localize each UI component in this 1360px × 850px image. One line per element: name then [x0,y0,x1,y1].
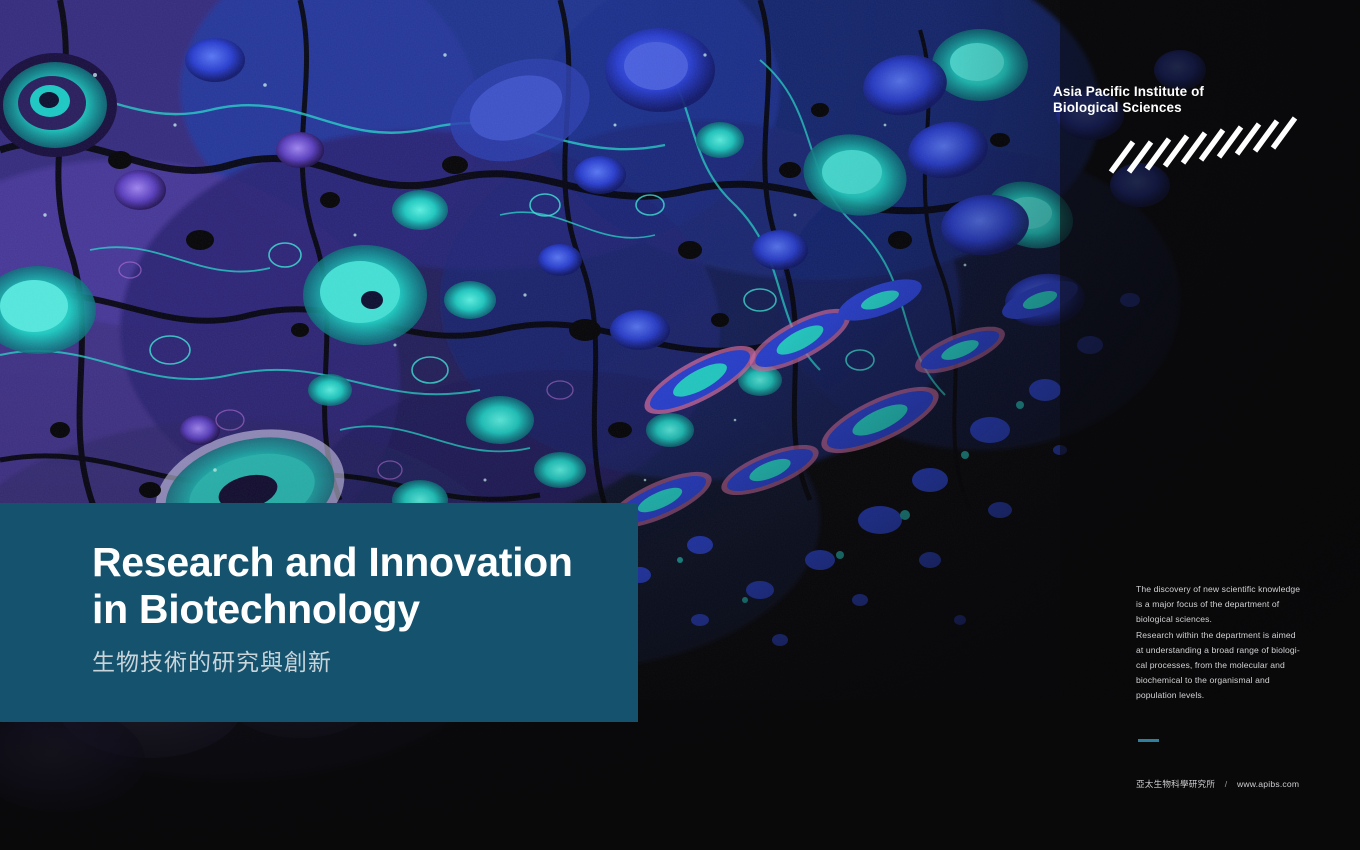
page-title: Research and Innovation in Biotechnology [92,539,612,633]
body-paragraph: The discovery of new scientific knowledg… [1136,582,1301,704]
footer-org-name: 亞太生物科學研究所 [1136,779,1215,789]
footer-separator: / [1225,779,1228,789]
body-text-column: The discovery of new scientific knowledg… [1136,582,1301,704]
accent-rule [1138,739,1159,742]
footer-website[interactable]: www.apibs.com [1237,779,1299,789]
logo-wordmark: Asia Pacific Institute of Biological Sci… [1053,84,1204,115]
page-subtitle: 生物技術的研究與創新 [92,647,612,677]
logo-lockup[interactable]: Asia Pacific Institute of Biological Sci… [1053,84,1204,115]
title-inner: Research and Innovation in Biotechnology… [92,539,612,677]
title-panel: Research and Innovation in Biotechnology… [0,503,638,722]
footer: 亞太生物科學研究所 / www.apibs.com [1136,778,1299,790]
poster-root: Asia Pacific Institute of Biological Sci… [0,0,1360,850]
diagonal-slashes-logo-mark [1103,116,1353,176]
